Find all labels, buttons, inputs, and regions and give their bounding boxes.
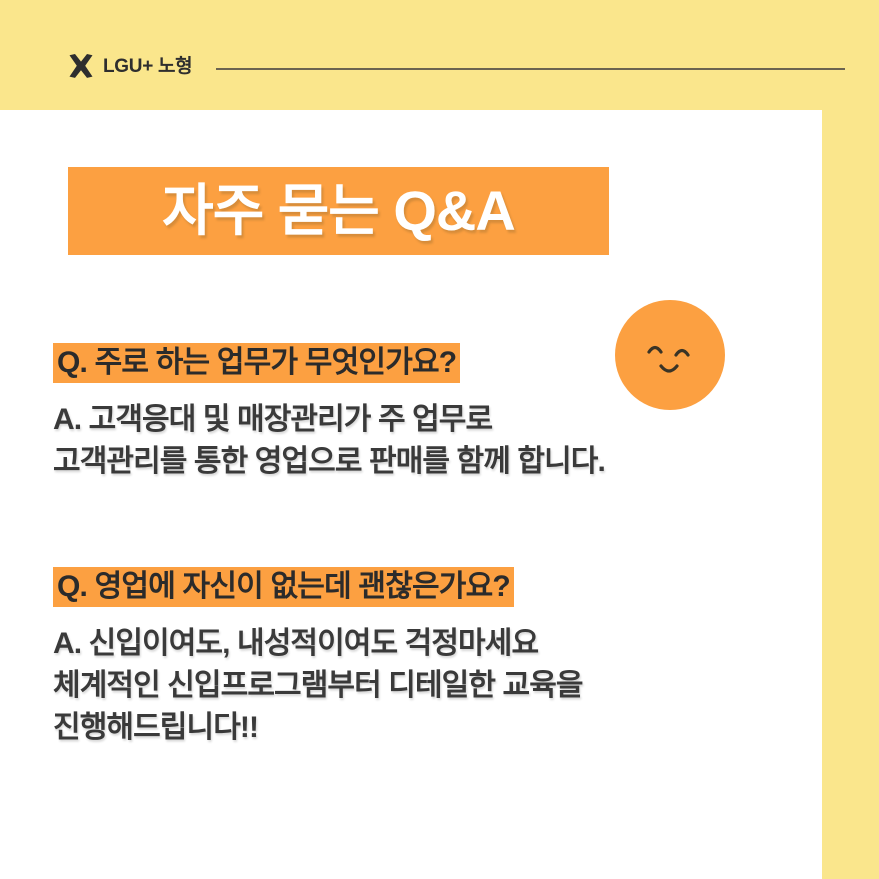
answer-line: 고객관리를 통한 영업으로 판매를 함께 합니다. [53,441,605,483]
answer-line: A. 고객응대 및 매장관리가 주 업무로 [53,399,605,441]
smiling-face-icon [615,300,725,410]
answer-line: 체계적인 신입프로그램부터 디테일한 교육을 [53,665,583,707]
brand-logo: LGU+ 노형 [68,53,192,79]
faq-question: Q. 주로 하는 업무가 무엇인가요? [53,343,460,383]
title-banner: 자주 묻는 Q&A [68,167,609,255]
faq-item-1: Q. 주로 하는 업무가 무엇인가요? A. 고객응대 및 매장관리가 주 업무… [53,343,605,483]
content-panel: 자주 묻는 Q&A Q. 주로 하는 업무가 무엇인가요? A. 고객응대 및 … [0,110,822,879]
faq-card: LGU+ 노형 자주 묻는 Q&A Q. 주로 하는 업무가 무엇인가요? A.… [0,0,879,879]
answer-line: A. 신입이여도, 내성적이여도 걱정마세요 [53,623,583,665]
answer-line: 진행해드립니다!! [53,707,583,749]
faq-answer: A. 신입이여도, 내성적이여도 걱정마세요 체계적인 신입프로그램부터 디테일… [53,623,583,749]
page-header: LGU+ 노형 [0,0,879,110]
faq-question: Q. 영업에 자신이 없는데 괜찮은가요? [53,567,514,607]
header-divider [216,68,845,70]
faq-item-2: Q. 영업에 자신이 없는데 괜찮은가요? A. 신입이여도, 내성적이여도 걱… [53,567,583,749]
x-mark-icon [68,53,94,79]
brand-name: LGU+ 노형 [103,57,192,76]
page-title: 자주 묻는 Q&A [162,183,515,239]
faq-answer: A. 고객응대 및 매장관리가 주 업무로 고객관리를 통한 영업으로 판매를 … [53,399,605,483]
